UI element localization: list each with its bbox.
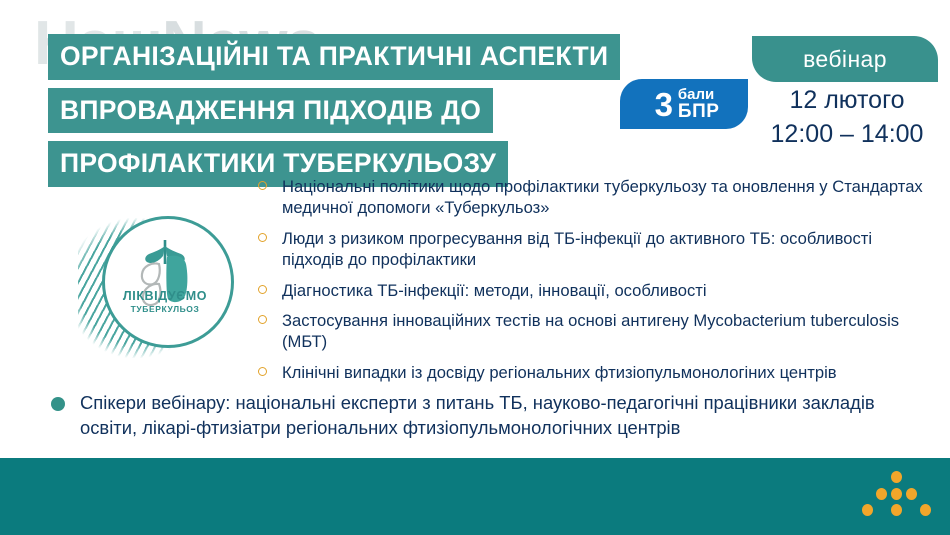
decor-dot: [891, 504, 902, 516]
points-word-top: бали: [678, 87, 720, 102]
agenda-item: Національні політики щодо профілактики т…: [256, 176, 936, 219]
agenda-item: Люди з ризиком прогресування від ТБ-інфе…: [256, 228, 936, 271]
bullet-circle-icon: [258, 285, 267, 294]
event-datetime: 12 лютого 12:00 – 14:00: [752, 84, 942, 151]
speakers-note: Спікери вебінару: національні експерти з…: [48, 390, 928, 441]
agenda-item-text: Діагностика ТБ-інфекції: методи, інновац…: [282, 281, 707, 300]
event-time: 12:00 – 14:00: [752, 118, 942, 152]
points-number: 3: [655, 88, 673, 121]
decor-dot: [891, 488, 902, 500]
webinar-badge-label: вебінар: [803, 46, 887, 73]
logo-text: ЛІКВІДУЄМО ТУБЕРКУЛЬОЗ: [102, 290, 228, 315]
agenda-item-text: Національні політики щодо профілактики т…: [282, 177, 923, 217]
webinar-badge: вебінар: [752, 36, 938, 82]
title-line-row-2: ВПРОВАДЖЕННЯ ПІДХОДІВ ДО: [48, 88, 648, 142]
agenda-item-text: Люди з ризиком прогресування від ТБ-інфе…: [282, 229, 872, 269]
dot-cluster-decoration: [862, 471, 932, 519]
title-line-row-1: ОРГАНІЗАЦІЙНІ ТА ПРАКТИЧНІ АСПЕКТИ: [48, 34, 648, 88]
decor-dot: [862, 504, 873, 516]
agenda-item: Діагностика ТБ-інфекції: методи, інновац…: [256, 280, 936, 301]
speakers-bullet-dot-icon: [51, 397, 65, 411]
title-line-2: ВПРОВАДЖЕННЯ ПІДХОДІВ ДО: [48, 88, 493, 134]
agenda-item: Застосування інноваційних тестів на осно…: [256, 310, 936, 353]
page-title: ОРГАНІЗАЦІЙНІ ТА ПРАКТИЧНІ АСПЕКТИ ВПРОВ…: [48, 34, 648, 195]
agenda-item-text: Застосування інноваційних тестів на осно…: [282, 311, 899, 351]
cpd-points-badge: 3 бали БПР: [620, 79, 748, 129]
lungs-icon: [102, 216, 228, 342]
event-date: 12 лютого: [752, 84, 942, 118]
bullet-circle-icon: [258, 367, 267, 376]
logo-line-1: ЛІКВІДУЄМО: [102, 290, 228, 304]
decor-dot: [876, 488, 887, 500]
footer-bar: [0, 458, 950, 535]
bullet-circle-icon: [258, 181, 267, 190]
points-words: бали БПР: [678, 87, 720, 122]
agenda-list: Національні політики щодо профілактики т…: [256, 176, 936, 383]
speakers-text: Спікери вебінару: національні експерти з…: [80, 392, 875, 438]
decor-dot: [920, 504, 931, 516]
decor-dot: [891, 471, 902, 483]
agenda-item: Клінічні випадки із досвіду регіональних…: [256, 362, 936, 383]
decor-dot: [906, 488, 917, 500]
webinar-poster: НашNews ОРГАНІЗАЦІЙНІ ТА ПРАКТИЧНІ АСПЕК…: [0, 0, 950, 535]
bullet-circle-icon: [258, 233, 267, 242]
campaign-logo: ЛІКВІДУЄМО ТУБЕРКУЛЬОЗ: [78, 212, 238, 364]
points-word-bottom: БПР: [678, 102, 720, 121]
agenda-item-text: Клінічні випадки із досвіду регіональних…: [282, 363, 837, 382]
title-line-1: ОРГАНІЗАЦІЙНІ ТА ПРАКТИЧНІ АСПЕКТИ: [48, 34, 620, 80]
bullet-circle-icon: [258, 315, 267, 324]
logo-line-2: ТУБЕРКУЛЬОЗ: [102, 304, 228, 315]
